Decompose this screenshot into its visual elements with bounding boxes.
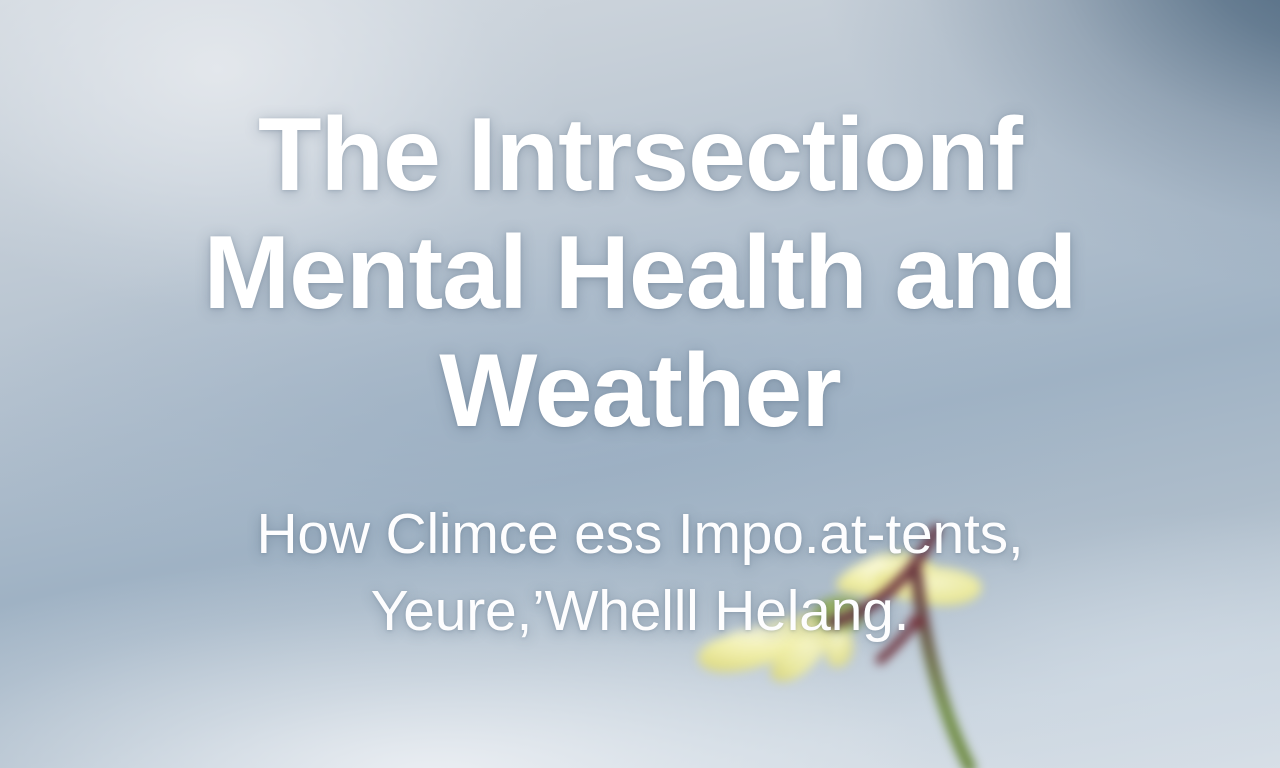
title-line-1: The Intrsectionf	[0, 96, 1280, 214]
title-line-2: Mental Health and	[0, 214, 1280, 332]
subtitle-line-2: Yeure,’Whelll Helang.	[0, 573, 1280, 650]
page-subtitle: How Climce ess Impo.at-tents, Yeure,’Whe…	[0, 496, 1280, 650]
title-slide: The Intrsectionf Mental Health and Weath…	[0, 0, 1280, 768]
title-line-3: Weather	[0, 332, 1280, 450]
text-block: The Intrsectionf Mental Health and Weath…	[0, 0, 1280, 768]
page-title: The Intrsectionf Mental Health and Weath…	[0, 0, 1280, 450]
subtitle-line-1: How Climce ess Impo.at-tents,	[0, 496, 1280, 573]
